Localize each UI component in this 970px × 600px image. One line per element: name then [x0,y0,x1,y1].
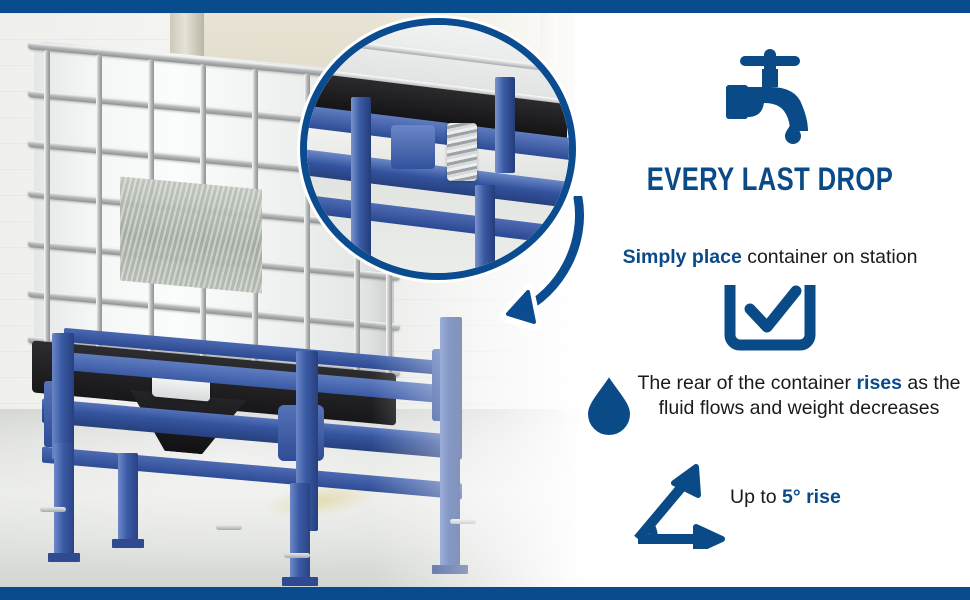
inset-frame-post [495,77,515,173]
step3-bold: 5° rise [782,486,841,508]
stand-front-rail [42,399,462,460]
step2-bold: rises [856,372,902,394]
stand-foot [432,565,468,574]
stand-post [440,317,462,457]
stand-foot [282,577,318,586]
step1-rest: container on station [742,246,918,268]
step3-pre: Up to [730,486,782,508]
step2-pre: The rear of the container [637,372,856,394]
stand-lower-rail [42,447,462,500]
step1-text: Simply place container on station [570,246,970,269]
check-tray-icon [570,285,970,351]
bottom-blue-rule [0,587,970,600]
tilt-spring [447,123,477,181]
page-title: EVERY LAST DROP [610,161,930,198]
faucet-icon [570,43,970,147]
stand-foot [48,553,80,562]
locking-pin [450,519,476,524]
step2-post: as the [902,372,961,394]
locking-pin [40,507,66,512]
step2-line2: fluid flows and weight decreases [659,397,940,419]
top-blue-rule [0,0,970,13]
angle-icon [626,463,736,549]
locking-pin [284,553,310,558]
stand-leg [54,443,74,555]
stand-post [52,333,74,459]
content-panel: EVERY LAST DROP Simply place container o… [570,13,970,587]
step1-bold: Simply place [623,246,742,268]
stand-leg [118,453,138,541]
stand-foot [112,539,144,548]
stand-leg [440,451,460,567]
stand-leg [290,483,310,579]
promo-banner: EVERY LAST DROP Simply place container o… [0,0,970,600]
step3-text: Up to 5° rise [730,486,970,509]
step2-text: The rear of the container rises as the f… [628,371,970,422]
inset-frame-post [351,97,371,267]
locking-pin [216,525,242,530]
inset-mount-tab [391,125,435,169]
